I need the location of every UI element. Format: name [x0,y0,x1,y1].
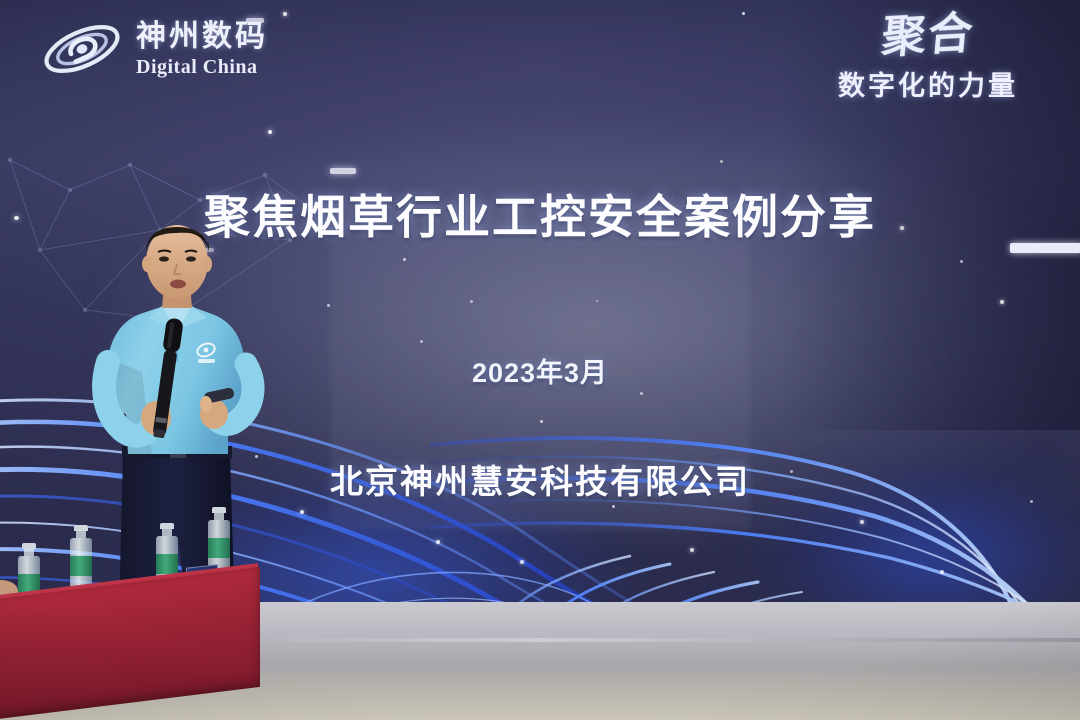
event-tagline: 数字化的力量 [798,64,1058,103]
digital-china-swirl-icon [40,18,124,80]
event-brush-title: 聚合 [795,7,1060,65]
brand-name-english: Digital China [136,57,268,77]
conference-stage-photo: 神州数码 Digital China 聚合 数字化的力量 聚焦烟草行业工控安全案… [0,0,1080,720]
digital-china-logo: 神州数码 Digital China [40,18,268,80]
screen-streak-decoration-title [330,168,356,174]
water-bottle [70,525,92,590]
foreground-head-table [0,540,270,720]
brand-name-chinese: 神州数码 [136,22,268,52]
event-logo: 聚合 数字化的力量 [798,14,1058,103]
water-bottle [208,507,230,572]
